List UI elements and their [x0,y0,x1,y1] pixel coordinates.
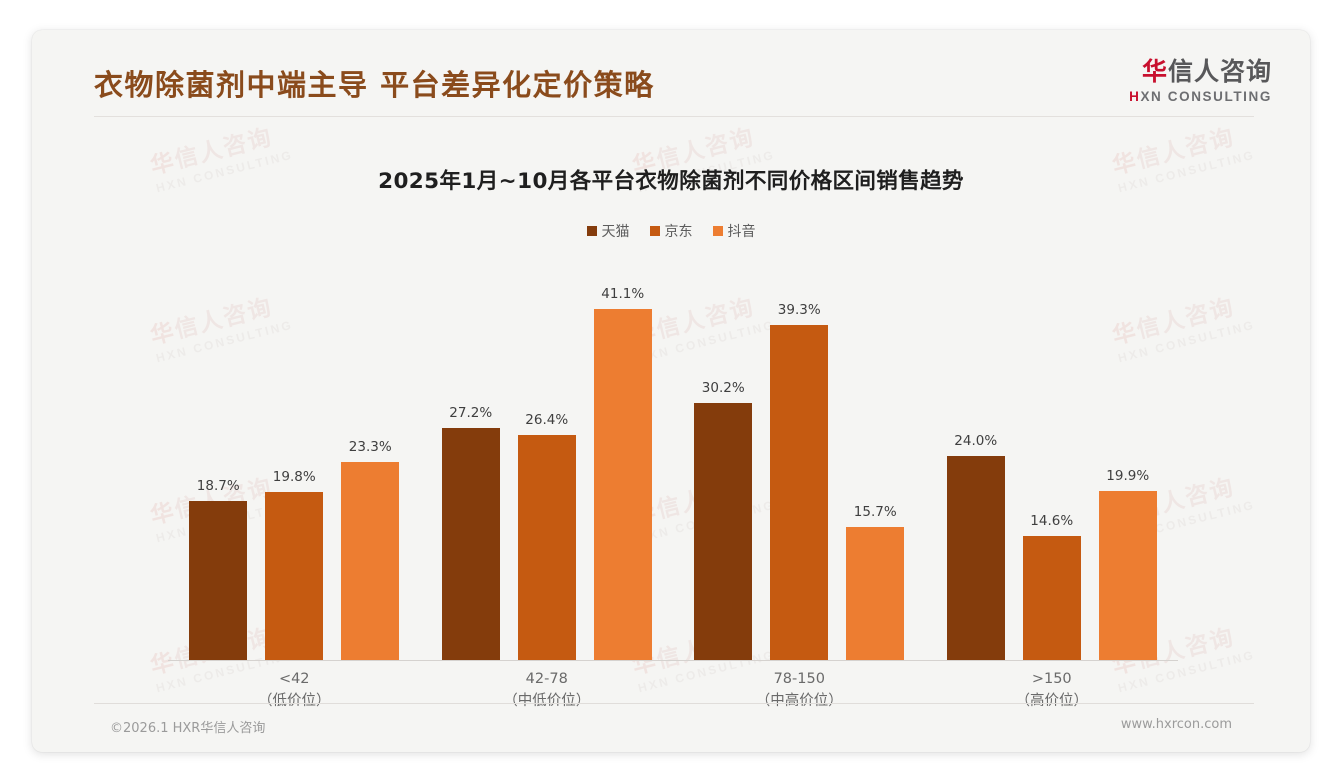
bar-value-label: 23.3% [349,439,392,455]
bar-column: 18.7% [189,276,247,661]
x-tick-range: 78-150 [774,671,825,687]
chart-container: 2025年1月~10月各平台衣物除菌剂不同价格区间销售趋势 天猫京东抖音 18.… [32,126,1310,712]
company-logo: 华信人咨询 HXN CONSULTING [1129,58,1272,104]
bar-京东[interactable] [770,325,828,661]
bar-group: 24.0%14.6%19.9% [926,276,1179,661]
bar-value-label: 41.1% [601,286,644,302]
slide-footer: ©2026.1 HXR华信人咨询 www.hxrcon.com [32,717,1310,736]
legend-item-抖音[interactable]: 抖音 [713,221,756,241]
bar-value-label: 19.9% [1106,468,1149,484]
footer-copyright: ©2026.1 HXR华信人咨询 [110,717,265,736]
legend-label: 抖音 [728,221,756,241]
bar-value-label: 30.2% [702,380,745,396]
bar-天猫[interactable] [189,501,247,661]
bar-group: 27.2%26.4%41.1% [421,276,674,661]
footer-website: www.hxrcon.com [1121,717,1232,736]
page-title: 衣物除菌剂中端主导 平台差异化定价策略 [94,62,655,104]
legend-label: 天猫 [602,221,630,241]
x-tick-subtitle: （低价位） [168,690,421,712]
bar-column: 23.3% [341,276,399,661]
bar-column: 19.8% [265,276,323,661]
bar-天猫[interactable] [694,403,752,661]
bar-column: 19.9% [1099,276,1157,661]
slide-header: 衣物除菌剂中端主导 平台差异化定价策略 [32,30,1310,118]
logo-chinese-text: 华信人咨询 [1129,58,1272,86]
header-divider [94,116,1254,117]
logo-cn-rest: 信人咨询 [1168,57,1272,86]
bar-group: 30.2%39.3%15.7% [673,276,926,661]
bar-column: 27.2% [442,276,500,661]
legend-item-天猫[interactable]: 天猫 [587,221,630,241]
bar-group: 18.7%19.8%23.3% [168,276,421,661]
x-axis-tick-label: 42-78（中低价位） [421,668,674,713]
bar-value-label: 27.2% [449,405,492,421]
bar-groups: 18.7%19.8%23.3%27.2%26.4%41.1%30.2%39.3%… [168,276,1178,661]
bar-value-label: 15.7% [854,504,897,520]
bar-value-label: 14.6% [1030,513,1073,529]
legend-item-京东[interactable]: 京东 [650,221,693,241]
x-axis-tick-label: 78-150（中高价位） [673,668,926,713]
bar-column: 30.2% [694,276,752,661]
x-tick-range: 42-78 [526,671,568,687]
bar-value-label: 19.8% [273,469,316,485]
bar-value-label: 39.3% [778,302,821,318]
x-tick-range: <42 [279,671,310,687]
bar-抖音[interactable] [341,462,399,661]
legend-swatch-icon [650,226,660,236]
legend-swatch-icon [587,226,597,236]
chart-plot-area: 18.7%19.8%23.3%27.2%26.4%41.1%30.2%39.3%… [168,276,1178,661]
chart-title: 2025年1月~10月各平台衣物除菌剂不同价格区间销售趋势 [32,164,1310,195]
x-tick-subtitle: （中高价位） [673,690,926,712]
bar-京东[interactable] [518,435,576,661]
x-tick-range: >150 [1032,671,1072,687]
x-axis-tick-label: >150（高价位） [926,668,1179,713]
bar-京东[interactable] [265,492,323,661]
bar-column: 41.1% [594,276,652,661]
bar-天猫[interactable] [947,456,1005,661]
bar-value-label: 18.7% [197,478,240,494]
logo-cn-accent-char: 华 [1142,57,1168,86]
logo-en-accent-char: H [1129,89,1140,104]
bar-value-label: 26.4% [525,412,568,428]
footer-divider [94,703,1254,704]
chart-legend: 天猫京东抖音 [32,221,1310,241]
bar-抖音[interactable] [1099,491,1157,661]
logo-english-text: HXN CONSULTING [1129,89,1272,104]
x-tick-subtitle: （高价位） [926,690,1179,712]
bar-column: 26.4% [518,276,576,661]
logo-en-rest: XN CONSULTING [1140,89,1272,104]
bar-column: 14.6% [1023,276,1081,661]
bar-column: 24.0% [947,276,1005,661]
legend-label: 京东 [665,221,693,241]
bar-column: 15.7% [846,276,904,661]
bar-天猫[interactable] [442,428,500,661]
x-axis-line [168,660,1178,661]
bar-抖音[interactable] [846,527,904,661]
bar-抖音[interactable] [594,309,652,661]
bar-京东[interactable] [1023,536,1081,661]
bar-column: 39.3% [770,276,828,661]
bar-value-label: 24.0% [954,433,997,449]
slide-card: 华信人咨询HXN CONSULTING华信人咨询HXN CONSULTING华信… [32,30,1310,752]
legend-swatch-icon [713,226,723,236]
x-tick-subtitle: （中低价位） [421,690,674,712]
x-axis-tick-label: <42（低价位） [168,668,421,713]
x-axis-labels: <42（低价位）42-78（中低价位）78-150（中高价位）>150（高价位） [168,668,1178,713]
